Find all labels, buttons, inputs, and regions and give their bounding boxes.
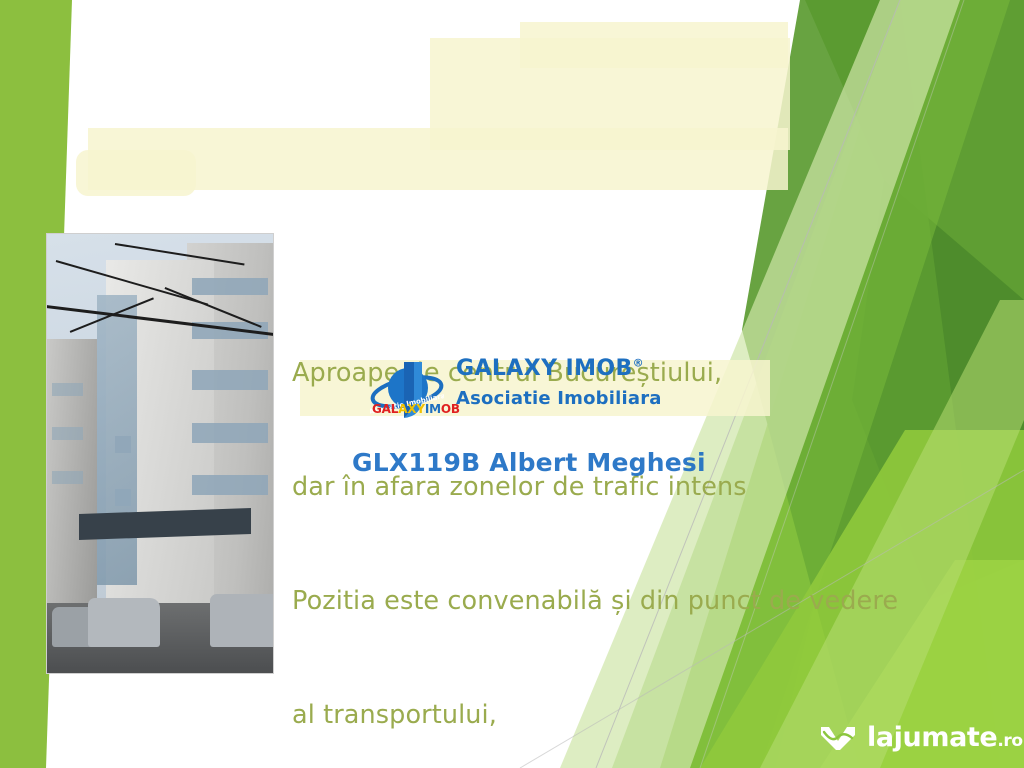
logo-small-wordmark: GALAXYIMOB bbox=[372, 402, 460, 416]
yellow-highlight-dot bbox=[76, 150, 196, 196]
building-photo bbox=[46, 233, 274, 674]
logo-brand-name: GALAXY IMOB® bbox=[456, 356, 644, 381]
logo-brand-text: GALAXY IMOB bbox=[456, 356, 633, 381]
site-watermark: lajumate.ro bbox=[818, 722, 1023, 753]
site-watermark-text: lajumate.ro bbox=[867, 722, 1023, 753]
body-line: al transportului, bbox=[292, 696, 832, 734]
registered-mark: ® bbox=[633, 357, 644, 370]
agent-watermark: GLX119B Albert Meghesi bbox=[352, 448, 706, 477]
lajumate-heart-icon bbox=[818, 723, 858, 753]
presentation-slide: Aproape de centrul Bucureștiului, dar în… bbox=[0, 0, 1024, 768]
galaxy-imob-logo: Asociatie Imobiliara GALAXY IMOB® Asocia… bbox=[370, 352, 670, 428]
body-line: Pozitia este convenabilă și din punct de… bbox=[292, 582, 832, 620]
logo-subtitle: Asociatie Imobiliara bbox=[456, 388, 662, 409]
yellow-highlight-strip bbox=[520, 22, 788, 68]
